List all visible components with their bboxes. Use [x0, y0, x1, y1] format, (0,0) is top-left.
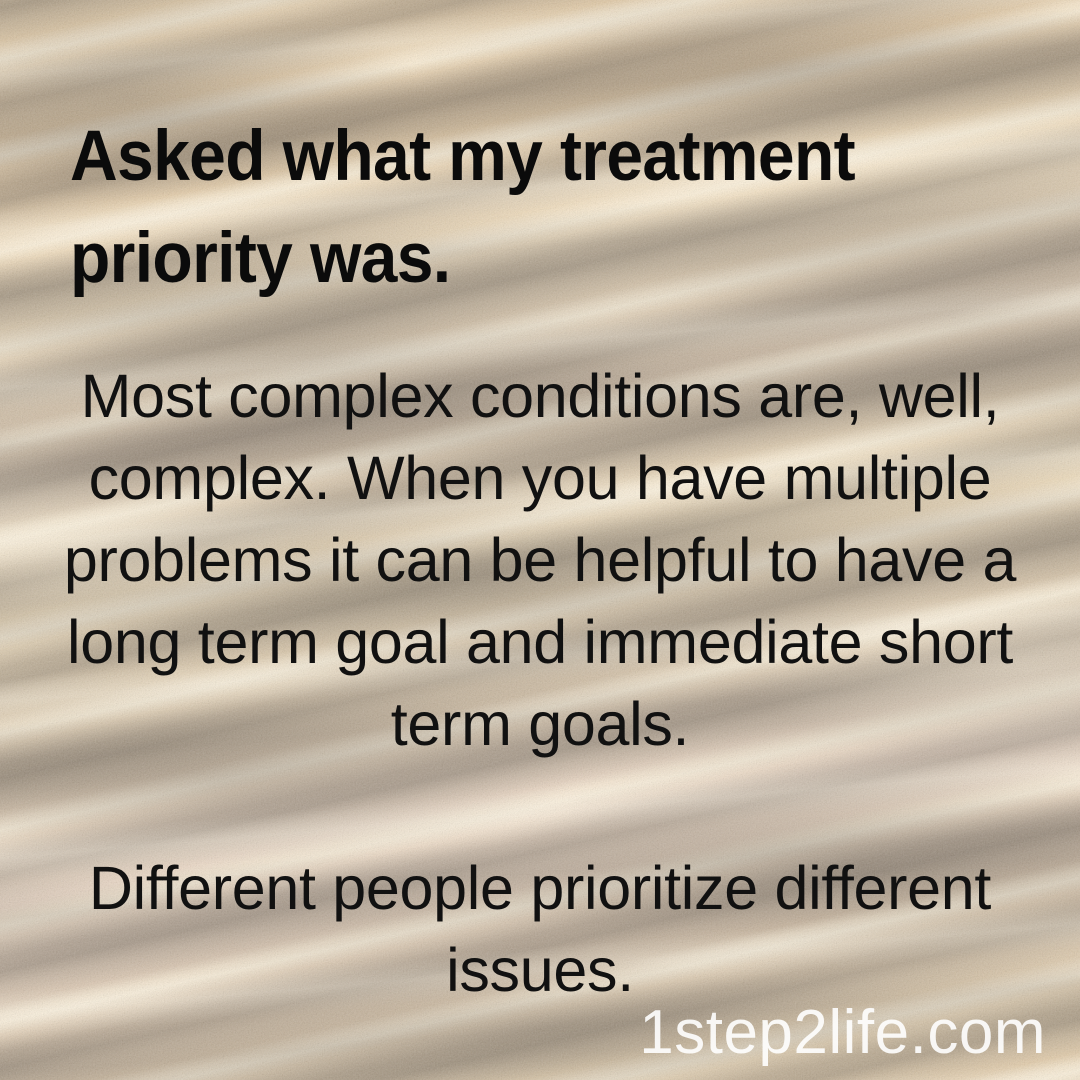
quote-body: Most complex conditions are, well, compl…: [40, 355, 1040, 1011]
quote-graphic-canvas: Asked what my treatment priority was. Mo…: [0, 0, 1080, 1080]
site-watermark: 1step2life.com: [639, 997, 1046, 1068]
page-title: Asked what my treatment priority was.: [70, 106, 963, 310]
quote-paragraph-2: Different people prioritize different is…: [40, 847, 1040, 1011]
paragraph-spacer: [40, 765, 1040, 847]
text-content-layer: Asked what my treatment priority was. Mo…: [0, 0, 1080, 1080]
quote-paragraph-1: Most complex conditions are, well, compl…: [40, 355, 1040, 765]
